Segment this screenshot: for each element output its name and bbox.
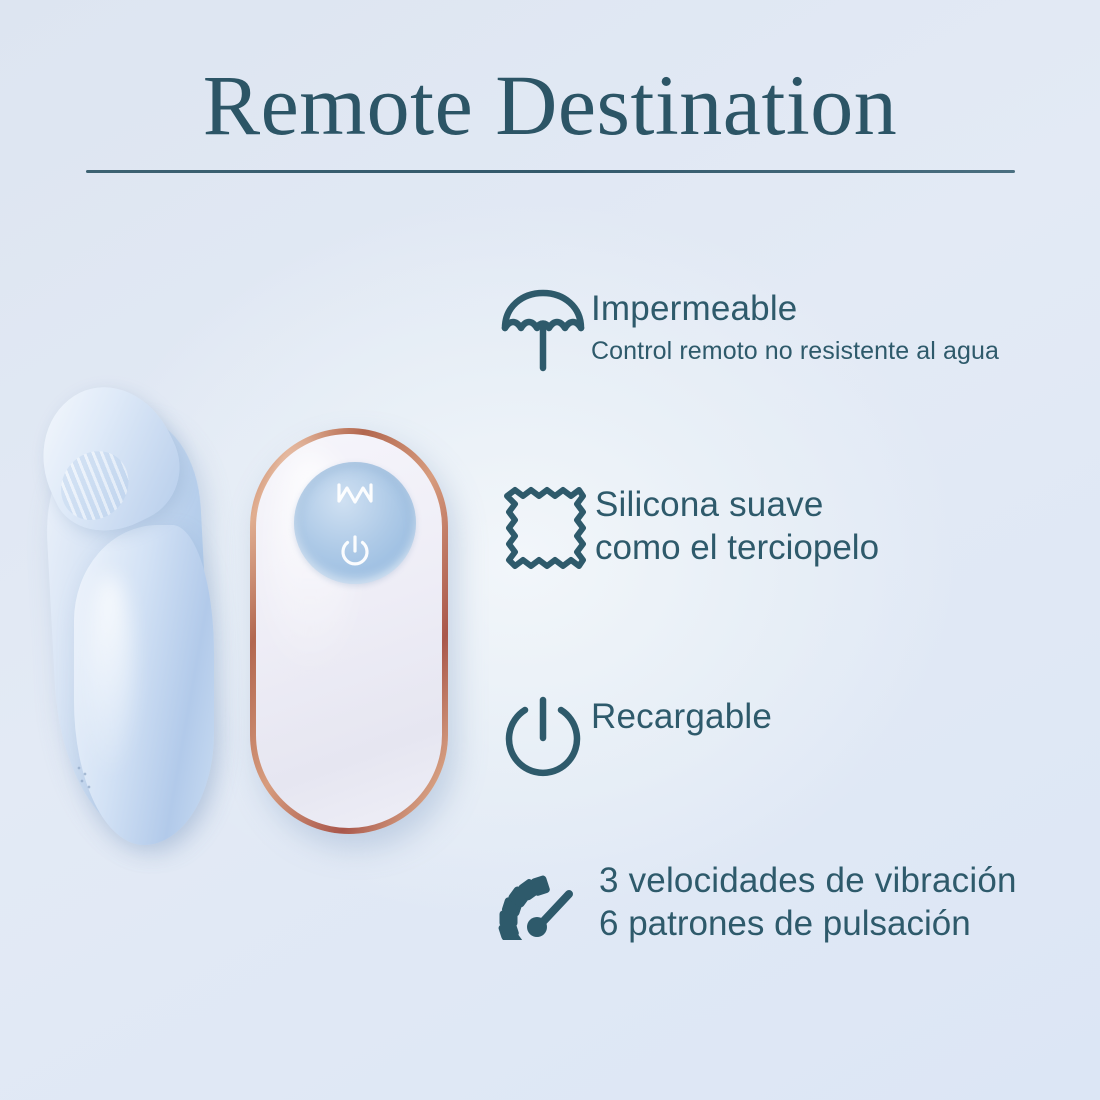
remote-control-button[interactable] [294, 462, 416, 584]
feature-title: 3 velocidades de vibración [599, 860, 1017, 903]
feature-title-line2: como el terciopelo [595, 527, 879, 570]
product-feature-banner: Remote Destination [0, 0, 1100, 1100]
wave-mode-symbol [335, 481, 375, 512]
product-image-main [30, 375, 245, 845]
feature-item-speeds-patterns: 3 velocidades de vibración 6 patrones de… [495, 858, 1095, 945]
page-title: Remote Destination [0, 62, 1100, 148]
feature-item-waterproof: Impermeable Control remoto no resistente… [495, 286, 1095, 372]
feature-text-speeds-patterns: 3 velocidades de vibración 6 patrones de… [599, 858, 1017, 945]
feature-text-soft-silicone: Silicona suave como el terciopelo [595, 482, 879, 569]
umbrella-icon [495, 286, 591, 372]
power-symbol [338, 534, 372, 575]
feature-text-waterproof: Impermeable Control remoto no resistente… [591, 286, 999, 366]
feature-title: Recargable [591, 696, 772, 739]
product-highlight [88, 575, 132, 775]
feature-text-rechargeable: Recargable [591, 694, 772, 739]
speedometer-icon [495, 858, 599, 940]
title-divider [86, 170, 1015, 173]
feature-title: Silicona suave [595, 484, 879, 527]
feature-subtitle: Control remoto no resistente al agua [591, 337, 999, 366]
remote-face [256, 434, 442, 828]
feature-item-soft-silicone: Silicona suave como el terciopelo [495, 482, 1095, 582]
feature-title-line2: 6 patrones de pulsación [599, 903, 1017, 946]
power-icon [495, 694, 591, 786]
feature-item-rechargeable: Recargable [495, 694, 1095, 786]
feature-title: Impermeable [591, 288, 999, 331]
product-charging-pins [76, 765, 98, 795]
product-image-remote [250, 428, 448, 834]
pinked-square-icon [495, 482, 595, 582]
